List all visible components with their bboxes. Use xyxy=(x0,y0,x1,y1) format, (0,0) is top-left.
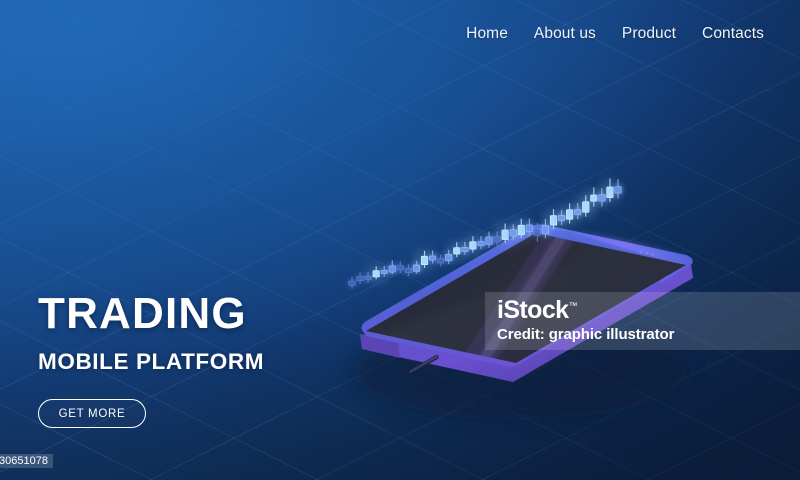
candle-body xyxy=(615,187,622,193)
candle-body xyxy=(357,276,364,280)
candlestick xyxy=(389,260,396,274)
candle-body xyxy=(429,256,436,260)
candle-body xyxy=(470,242,477,250)
candlestick xyxy=(615,179,622,198)
candle-body xyxy=(486,237,493,245)
candle-body xyxy=(526,225,533,231)
candlestick xyxy=(486,232,493,248)
nav-item-contacts[interactable]: Contacts xyxy=(702,25,764,43)
nav-item-product[interactable]: Product xyxy=(622,25,676,43)
candlestick xyxy=(365,272,372,283)
trademark-icon: ™ xyxy=(568,301,576,311)
candlestick xyxy=(599,188,606,206)
candlestick xyxy=(349,277,356,289)
candle-body xyxy=(582,202,589,213)
candle-body xyxy=(558,215,565,220)
candle-body xyxy=(542,225,549,234)
hero-section: TRADING MOBILE PLATFORM GET MORE xyxy=(38,292,264,428)
candle-body xyxy=(510,230,517,236)
candlestick xyxy=(381,266,388,277)
candlestick xyxy=(566,203,573,223)
candle-body xyxy=(389,266,396,272)
candle-body xyxy=(445,254,452,260)
candlestick xyxy=(453,242,460,257)
candlestick xyxy=(405,264,412,276)
candle-body xyxy=(478,241,485,245)
candlestick xyxy=(397,261,404,273)
candlestick xyxy=(478,236,485,249)
candle-body xyxy=(494,237,501,242)
get-more-button[interactable]: GET MORE xyxy=(38,399,146,428)
candlestick xyxy=(494,231,501,245)
candle-body xyxy=(405,268,412,272)
candlestick xyxy=(574,203,581,219)
candlestick xyxy=(607,178,614,202)
candlestick xyxy=(357,272,364,284)
candle-body xyxy=(518,225,525,235)
candlestick xyxy=(558,210,565,225)
candle-body xyxy=(349,281,356,285)
candlestick xyxy=(413,261,420,274)
candle-body xyxy=(607,187,614,198)
candlestick xyxy=(437,255,444,267)
candle-body xyxy=(534,229,541,235)
candlestick xyxy=(582,195,589,216)
candle-body xyxy=(599,195,606,201)
candle-body xyxy=(381,270,388,273)
candle-body xyxy=(462,247,469,251)
candlestick xyxy=(591,187,598,206)
candle-body xyxy=(365,276,372,279)
candle-body xyxy=(373,271,380,277)
candlestick xyxy=(502,224,509,243)
candlestick xyxy=(373,266,380,279)
candlestick xyxy=(429,251,436,264)
candle-body xyxy=(566,210,573,220)
nav-item-about-us[interactable]: About us xyxy=(534,25,596,43)
candlestick xyxy=(421,251,428,268)
candle-body xyxy=(591,195,598,201)
candle-body xyxy=(453,248,460,254)
candle-body xyxy=(437,259,444,263)
candle-body xyxy=(550,216,557,226)
page-subtitle: MOBILE PLATFORM xyxy=(38,349,264,375)
watermark-credit: Credit: graphic illustrator xyxy=(497,326,674,343)
candle-body xyxy=(502,230,509,240)
landing-page: Home About us Product Contacts TRADING M… xyxy=(0,0,800,480)
candle-body xyxy=(574,209,581,214)
candle-body xyxy=(397,266,404,270)
page-title: TRADING xyxy=(38,292,264,336)
candlestick xyxy=(462,242,469,255)
istock-logo-text: iStock xyxy=(497,296,568,324)
asset-id-badge: 30651078 xyxy=(0,454,53,468)
candle-body xyxy=(421,256,428,265)
nav-item-home[interactable]: Home xyxy=(466,25,508,43)
candlestick xyxy=(470,236,477,252)
main-navigation: Home About us Product Contacts xyxy=(466,25,764,43)
candlestick xyxy=(445,250,452,264)
candle-body xyxy=(413,265,420,271)
istock-logo: iStock™ xyxy=(497,296,577,325)
